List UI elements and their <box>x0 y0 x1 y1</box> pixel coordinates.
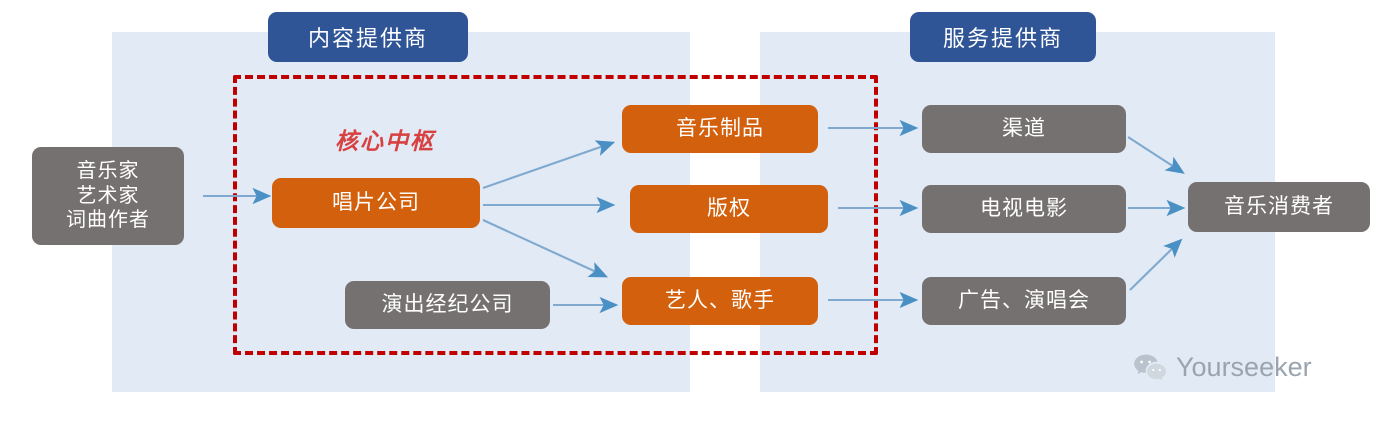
watermark: Yourseeker <box>1133 352 1312 383</box>
node-talent-agency[interactable]: 演出经纪公司 <box>345 281 550 329</box>
node-artists-singers[interactable]: 艺人、歌手 <box>622 277 818 325</box>
node-copyright[interactable]: 版权 <box>630 185 828 233</box>
node-creators-line-1: 音乐家 <box>77 159 140 183</box>
node-consumers[interactable]: 音乐消费者 <box>1188 182 1370 232</box>
node-creators-line-2: 艺术家 <box>77 184 140 208</box>
wechat-icon <box>1133 353 1167 383</box>
node-music-products[interactable]: 音乐制品 <box>622 105 818 153</box>
node-creators[interactable]: 音乐家 艺术家 词曲作者 <box>32 147 184 245</box>
node-creators-line-3: 词曲作者 <box>66 208 150 232</box>
watermark-text: Yourseeker <box>1176 352 1312 383</box>
node-record-company[interactable]: 唱片公司 <box>272 178 480 228</box>
diagram-canvas: 内容提供商 服务提供商 核心中枢 <box>0 0 1397 427</box>
arrow-ads-concerts-to-consumers <box>1130 241 1180 290</box>
arrow-record-company-to-artists <box>483 220 605 276</box>
arrow-channels-to-consumers <box>1128 137 1182 172</box>
node-channels[interactable]: 渠道 <box>922 105 1126 153</box>
arrow-record-company-to-music-products <box>483 143 612 188</box>
node-ads-concerts[interactable]: 广告、演唱会 <box>922 277 1126 325</box>
node-tv-film[interactable]: 电视电影 <box>922 185 1126 233</box>
